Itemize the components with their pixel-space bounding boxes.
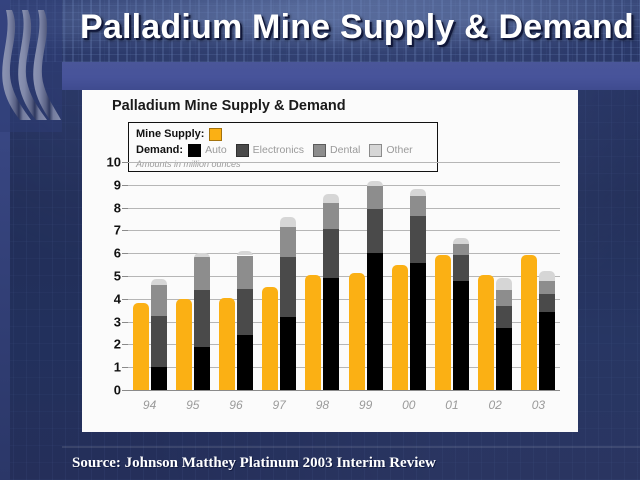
page-title: Palladium Mine Supply & Demand — [80, 8, 634, 47]
bar-segment-auto — [323, 278, 339, 390]
bar-segment-elec — [539, 294, 555, 312]
bar-segment-dental — [151, 285, 167, 316]
bar-group: 02 — [474, 162, 517, 390]
bar-segment-elec — [496, 306, 512, 329]
x-axis-tick-label: 02 — [489, 398, 502, 412]
bar-demand-stack — [410, 189, 426, 390]
y-axis-tick-label: 5 — [114, 269, 121, 284]
y-axis-tick-label: 7 — [114, 223, 121, 238]
bar-segment-other — [453, 238, 469, 244]
bar-segment-dental — [496, 290, 512, 306]
legend-supply-label: Mine Supply: — [136, 128, 204, 140]
y-axis-tick-label: 6 — [114, 246, 121, 261]
x-axis-tick-label: 98 — [316, 398, 329, 412]
bar-mine-supply — [133, 303, 149, 390]
legend-swatch-supply — [209, 128, 222, 141]
y-axis-tick-label: 0 — [114, 383, 121, 398]
bar-mine-supply — [392, 265, 408, 390]
source-caption: Source: Johnson Matthey Platinum 2003 In… — [72, 455, 436, 472]
legend-swatch-auto — [188, 144, 201, 157]
bar-segment-auto — [496, 328, 512, 390]
chart-panel: Palladium Mine Supply & Demand Mine Supp… — [82, 90, 578, 432]
x-axis-tick-label: 01 — [445, 398, 458, 412]
bar-segment-elec — [323, 229, 339, 278]
y-axis-tick-label: 8 — [114, 200, 121, 215]
logo-backdrop — [0, 0, 62, 132]
bar-segment-other — [194, 253, 210, 256]
bar-segment-elec — [237, 289, 253, 336]
bar-segment-elec — [194, 290, 210, 347]
legend-label-other: Other — [386, 144, 412, 156]
bar-group: 94 — [128, 162, 171, 390]
bar-demand-stack — [367, 181, 383, 390]
three-ribbon-logo — [0, 0, 62, 132]
x-axis-tick-label: 96 — [229, 398, 242, 412]
chart-title: Palladium Mine Supply & Demand — [112, 98, 346, 114]
bar-group: 01 — [430, 162, 473, 390]
bar-segment-other — [237, 251, 253, 256]
x-axis-tick-label: 03 — [532, 398, 545, 412]
y-axis-tick-label: 10 — [107, 155, 121, 170]
legend-label-dental: Dental — [330, 144, 360, 156]
bar-mine-supply — [305, 275, 321, 390]
bar-segment-auto — [453, 281, 469, 390]
bar-segment-other — [539, 271, 555, 280]
header-band — [62, 62, 640, 90]
x-axis-tick-label: 00 — [402, 398, 415, 412]
legend-swatch-dental — [313, 144, 326, 157]
bar-segment-dental — [367, 186, 383, 209]
y-axis-tick-label: 1 — [114, 360, 121, 375]
legend-row-supply: Mine Supply: — [136, 127, 431, 141]
bar-segment-auto — [410, 263, 426, 390]
bar-demand-stack — [539, 271, 555, 390]
bar-demand-stack — [280, 217, 296, 390]
bar-mine-supply — [521, 255, 537, 390]
bar-group: 97 — [258, 162, 301, 390]
bar-segment-dental — [410, 196, 426, 215]
bar-segment-dental — [323, 203, 339, 229]
y-axis-tick-label: 3 — [114, 314, 121, 329]
bar-demand-stack — [194, 253, 210, 390]
x-axis-tick-label: 99 — [359, 398, 372, 412]
bar-mine-supply — [219, 298, 235, 390]
bar-segment-auto — [280, 317, 296, 390]
bar-segment-other — [496, 278, 512, 289]
legend-swatch-electronics — [236, 144, 249, 157]
bar-mine-supply — [478, 275, 494, 390]
bar-segment-other — [151, 279, 167, 285]
bar-group: 99 — [344, 162, 387, 390]
y-axis-tick-label: 9 — [114, 177, 121, 192]
bar-demand-stack — [151, 279, 167, 390]
bar-segment-auto — [539, 312, 555, 390]
bar-segment-other — [280, 217, 296, 227]
slide: Palladium Mine Supply & Demand Palladium… — [0, 0, 640, 480]
footer-divider — [62, 446, 640, 448]
bar-segment-dental — [539, 281, 555, 295]
bar-segment-other — [367, 181, 383, 186]
bar-segment-dental — [280, 227, 296, 257]
bar-segment-dental — [194, 257, 210, 290]
y-axis-tick-label: 4 — [114, 291, 121, 306]
bar-segment-elec — [367, 209, 383, 253]
bar-segment-other — [410, 189, 426, 196]
x-axis-tick-label: 95 — [186, 398, 199, 412]
bar-group: 03 — [517, 162, 560, 390]
x-axis-tick-label: 94 — [143, 398, 156, 412]
bar-segment-auto — [367, 253, 383, 390]
bar-segment-elec — [151, 316, 167, 367]
bar-segment-auto — [151, 367, 167, 390]
y-tick-mark — [122, 390, 128, 391]
bar-group: 96 — [214, 162, 257, 390]
bar-segment-auto — [237, 335, 253, 390]
bar-segment-other — [323, 194, 339, 203]
gridline — [128, 390, 560, 391]
bar-segment-dental — [453, 244, 469, 255]
bar-segment-elec — [410, 216, 426, 264]
title-bar: Palladium Mine Supply & Demand — [62, 0, 640, 62]
legend-demand-label: Demand: — [136, 144, 183, 156]
plot-area: 01234567891094959697989900010203 — [128, 162, 560, 390]
bar-demand-stack — [496, 278, 512, 390]
legend-row-demand: Demand: Auto Electronics Dental Other — [136, 143, 431, 157]
bar-group: 95 — [171, 162, 214, 390]
bar-segment-elec — [280, 257, 296, 317]
bar-mine-supply — [349, 273, 365, 390]
bar-demand-stack — [453, 238, 469, 390]
bar-segment-elec — [453, 255, 469, 280]
legend-label-electronics: Electronics — [253, 144, 304, 156]
bar-group: 00 — [387, 162, 430, 390]
x-axis-tick-label: 97 — [273, 398, 286, 412]
y-axis-tick-label: 2 — [114, 337, 121, 352]
bar-mine-supply — [435, 255, 451, 390]
bar-demand-stack — [323, 194, 339, 390]
bar-mine-supply — [262, 287, 278, 390]
legend-label-auto: Auto — [205, 144, 227, 156]
bar-segment-auto — [194, 347, 210, 390]
bar-demand-stack — [237, 251, 253, 390]
bar-group: 98 — [301, 162, 344, 390]
legend-swatch-other — [369, 144, 382, 157]
bar-segment-dental — [237, 256, 253, 289]
bar-mine-supply — [176, 299, 192, 390]
